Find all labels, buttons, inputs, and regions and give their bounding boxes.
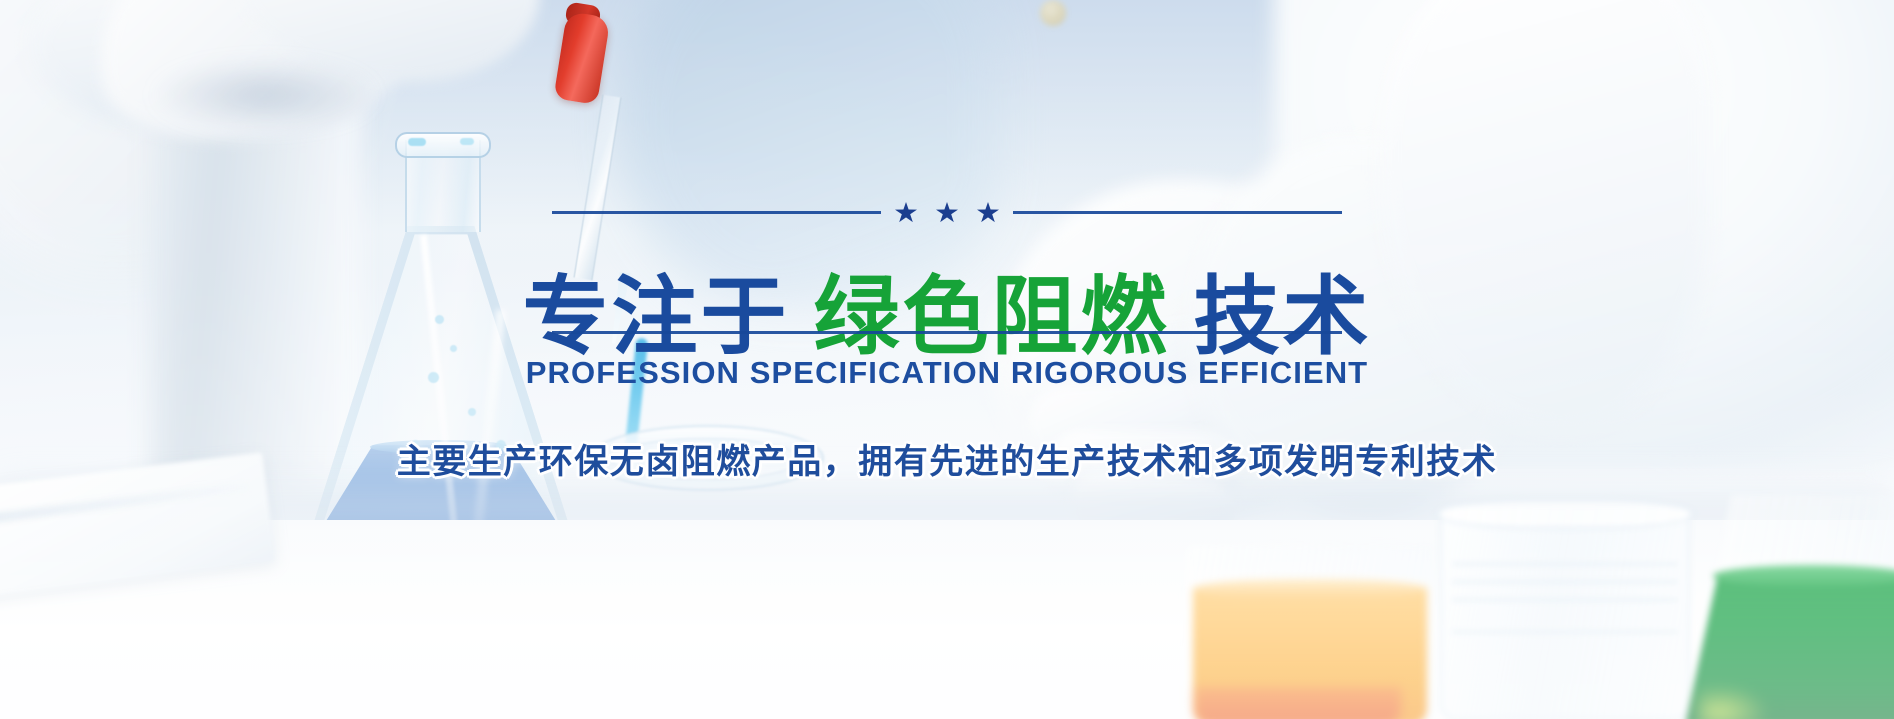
headline-part-1: 专注于: [523, 267, 790, 367]
subtitle-english: PROFESSION SPECIFICATION RIGOROUS EFFICI…: [526, 355, 1368, 391]
star-icon: [977, 202, 999, 223]
hero-banner: 专注于绿色阻燃技术 PROFESSION SPECIFICATION RIGOR…: [0, 0, 1894, 719]
star-icon: [936, 202, 958, 223]
headline-underline-rule: [552, 331, 1342, 334]
page-title: 专注于绿色阻燃技术: [523, 269, 1372, 365]
stars-group: [895, 202, 999, 223]
rule-right-icon: [1013, 211, 1342, 214]
rule-left-icon: [552, 211, 881, 214]
headline-part-3: 技术: [1194, 267, 1372, 367]
star-icon: [895, 202, 917, 223]
headline-part-2: 绿色阻燃: [814, 267, 1170, 367]
tagline-chinese: 主要生产环保无卤阻燃产品，拥有先进的生产技术和多项发明专利技术: [397, 434, 1498, 483]
banner-content: 专注于绿色阻燃技术 PROFESSION SPECIFICATION RIGOR…: [0, 0, 1894, 719]
decorative-rule-row: [552, 202, 1342, 223]
